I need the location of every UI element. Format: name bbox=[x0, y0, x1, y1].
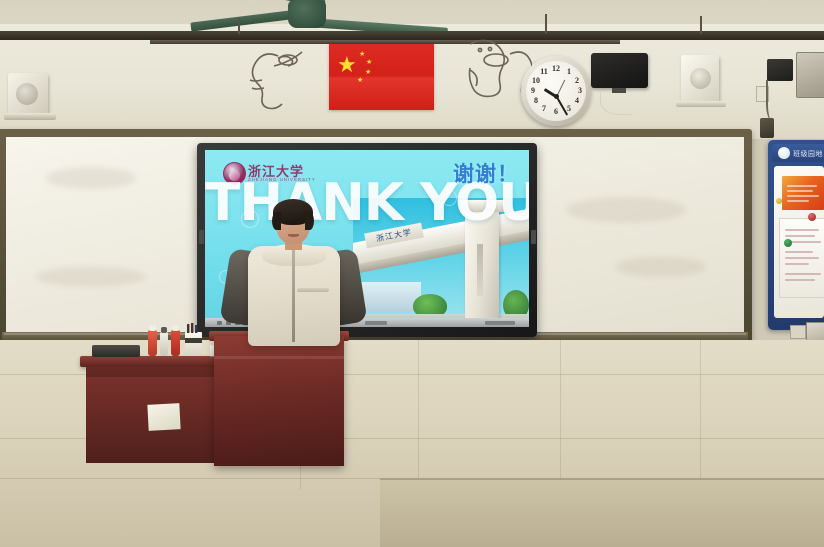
marker-cup-band bbox=[185, 338, 202, 343]
rail-hanger bbox=[700, 16, 702, 34]
bottle-cap bbox=[149, 325, 156, 331]
desk-tray bbox=[92, 345, 140, 357]
magnet-icon[interactable] bbox=[808, 213, 816, 221]
display-side-button[interactable] bbox=[199, 230, 204, 244]
flag-star-small: ★ bbox=[366, 59, 372, 66]
speaker-cone-icon bbox=[16, 83, 38, 105]
clock-numeral: 2 bbox=[571, 77, 583, 85]
hanging-cable bbox=[766, 80, 780, 120]
display-button[interactable] bbox=[217, 321, 222, 325]
bulletin-board-logo-icon bbox=[778, 147, 790, 159]
flag-star-large: ★ bbox=[337, 54, 357, 76]
display-side-button[interactable] bbox=[531, 230, 536, 244]
jacket-zipper bbox=[292, 250, 295, 342]
electrical-box bbox=[767, 59, 793, 81]
display-logo bbox=[365, 321, 387, 325]
clock-numeral: 1 bbox=[563, 68, 575, 76]
clock-face: 12 1 2 3 4 5 6 7 8 9 10 11 bbox=[526, 61, 586, 121]
poster-orange bbox=[782, 176, 824, 210]
classroom-photo: ★ ★ ★ ★ ★ 12 1 2 3 4 5 6 7 8 9 10 11 bbox=[0, 0, 824, 547]
bottle bbox=[171, 330, 180, 356]
clock-numeral: 7 bbox=[538, 105, 550, 113]
bottle-cap bbox=[161, 327, 167, 333]
paper-on-teacher-desk bbox=[147, 403, 180, 431]
clock-numeral: 6 bbox=[550, 108, 562, 116]
presenter-mouth bbox=[288, 234, 299, 237]
photo-building bbox=[359, 282, 421, 312]
marker-cup bbox=[185, 332, 202, 356]
duck-drawing-icon bbox=[248, 36, 334, 114]
speaker-cone-icon bbox=[690, 68, 711, 89]
slide-chinese-thanks: 谢谢！ bbox=[453, 158, 519, 188]
speaker-shelf bbox=[676, 101, 726, 107]
clock-center-pin bbox=[554, 94, 559, 99]
floor bbox=[380, 478, 824, 547]
clock-numeral: 10 bbox=[530, 77, 542, 85]
rail-hanger bbox=[545, 14, 547, 34]
rail-hanger bbox=[238, 18, 240, 34]
markers-icon bbox=[186, 323, 201, 333]
poster-notice bbox=[779, 218, 824, 298]
bottle bbox=[160, 332, 168, 356]
clock-numeral: 8 bbox=[530, 97, 542, 105]
clock-numeral: 9 bbox=[527, 87, 539, 95]
chinese-national-flag: ★ ★ ★ ★ ★ bbox=[329, 44, 434, 110]
electrical-box bbox=[796, 52, 824, 98]
bulletin-board-title: 班级园地 bbox=[793, 149, 824, 159]
display-brand bbox=[485, 321, 515, 325]
speaker-shelf bbox=[4, 113, 56, 120]
clock-numeral: 3 bbox=[574, 87, 586, 95]
ceiling-fan-motor bbox=[288, 0, 326, 28]
flag-star-small: ★ bbox=[357, 77, 363, 84]
floor-wall-joint bbox=[380, 478, 824, 480]
clock-numeral: 4 bbox=[571, 97, 583, 105]
clock-numeral: 11 bbox=[538, 68, 550, 76]
power-outlet[interactable] bbox=[790, 325, 806, 339]
wall-monitor bbox=[591, 53, 648, 88]
flag-star-small: ★ bbox=[359, 51, 365, 58]
jacket-pocket bbox=[297, 288, 329, 292]
clock-numeral: 12 bbox=[550, 65, 562, 73]
wall-clock: 12 1 2 3 4 5 6 7 8 9 10 11 bbox=[521, 56, 591, 126]
magnet-icon[interactable] bbox=[776, 198, 782, 204]
bottle bbox=[148, 330, 157, 356]
flag-star-small: ★ bbox=[365, 69, 371, 76]
magnet-icon[interactable] bbox=[784, 239, 792, 247]
cable-adapter bbox=[760, 118, 774, 138]
lectern-edge bbox=[214, 356, 344, 359]
gate-pillar-detail bbox=[477, 244, 483, 296]
presenter-hair-side bbox=[272, 212, 281, 230]
duck-drawing-icon bbox=[436, 30, 532, 112]
bottle-cap bbox=[172, 325, 179, 331]
presenter-hair-side bbox=[305, 212, 314, 230]
